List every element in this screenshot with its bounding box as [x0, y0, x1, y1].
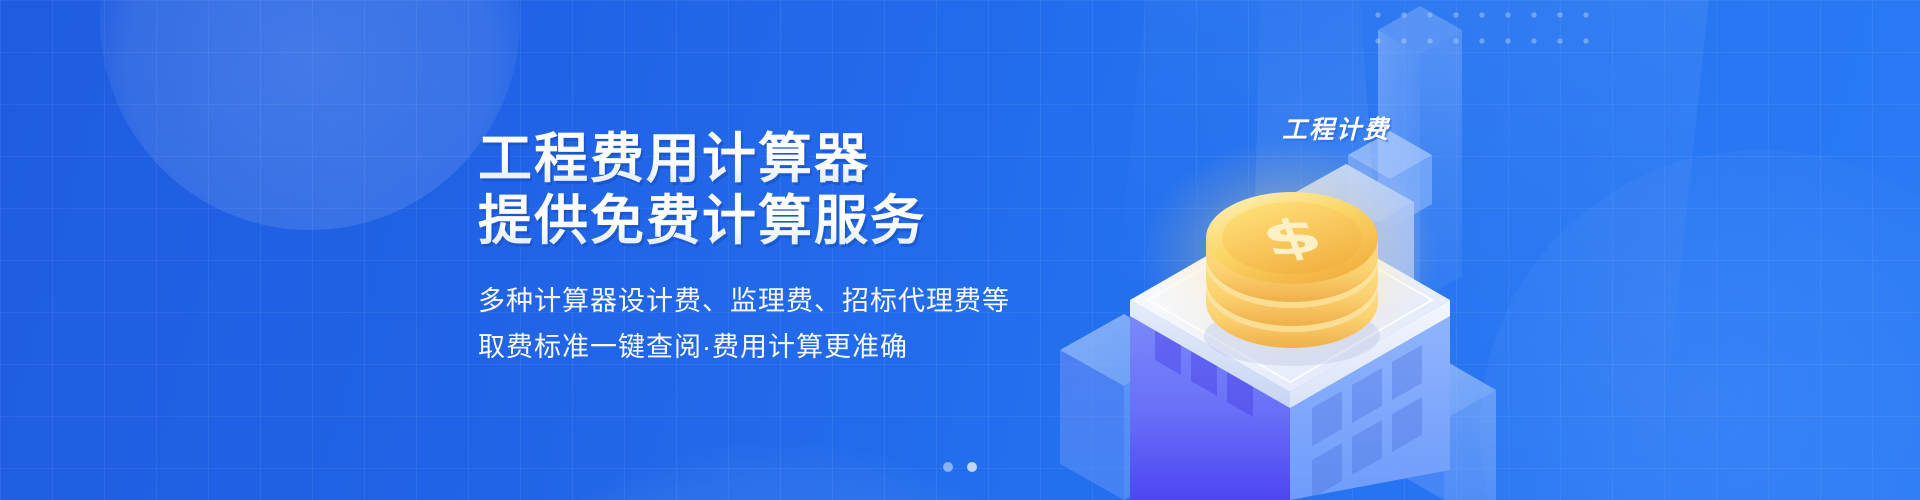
- headline-line-2: 提供免费计算服务: [478, 190, 1038, 252]
- carousel-dot-1[interactable]: [943, 462, 953, 472]
- hero-illustration: $ 工程计费: [1060, 0, 1920, 500]
- subtitle-line-1: 多种计算器设计费、监理费、招标代理费等: [478, 278, 1038, 324]
- carousel-pagination[interactable]: [0, 462, 1920, 472]
- headline-line-1: 工程费用计算器: [478, 128, 1038, 190]
- decor-circle-top-left: [100, 0, 520, 230]
- banner-copy: 工程费用计算器 提供免费计算服务 多种计算器设计费、监理费、招标代理费等 取费标…: [478, 128, 1038, 370]
- carousel-dot-2[interactable]: [967, 462, 977, 472]
- isometric-building-scene-svg: $: [1060, 0, 1920, 500]
- illustration-badge-label: 工程计费: [1282, 110, 1390, 146]
- hero-banner: $ 工程计费 工程费用计算器 提供免费计算服务 多种计算器设计费、监理费、招标代…: [0, 0, 1920, 500]
- subtitle-line-2: 取费标准一键查阅·费用计算更准确: [478, 324, 1038, 370]
- coin-dollar-icon: $: [1204, 192, 1380, 366]
